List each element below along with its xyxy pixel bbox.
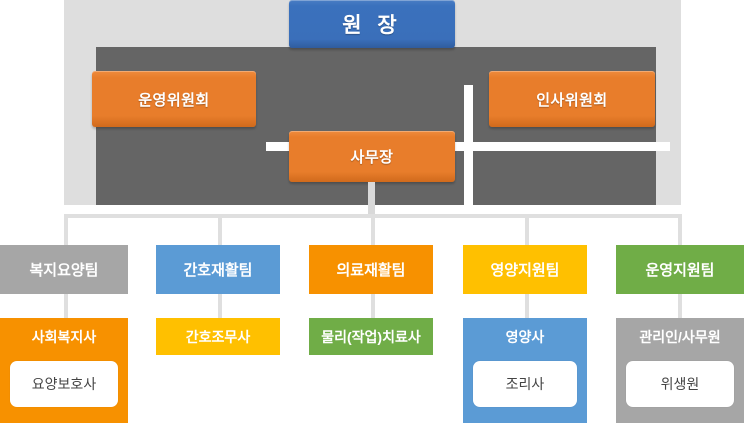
role-connector-3 — [371, 294, 375, 318]
role-connector-4 — [525, 294, 529, 318]
node-office-manager[interactable]: 사무장 — [289, 131, 455, 182]
rolecol-nurse-aide: 간호조무사 — [156, 318, 280, 355]
tree-drop-2 — [218, 214, 222, 247]
team-medical-rehab[interactable]: 의료재활팀 — [309, 245, 433, 294]
team-operations-support[interactable]: 운영지원팀 — [616, 245, 744, 294]
tree-drop-5 — [678, 214, 682, 247]
role-manager-clerk[interactable]: 관리인/사무원 — [616, 318, 744, 355]
executive-connector-vertical — [464, 85, 473, 223]
role-dietitian[interactable]: 영양사 — [463, 318, 587, 355]
role-social-worker[interactable]: 사회복지사 — [0, 318, 128, 355]
rolecol-social-worker: 사회복지사 요양보호사 — [0, 318, 128, 423]
role-nurse-aide[interactable]: 간호조무사 — [156, 318, 280, 355]
organization-chart: 원 장 운영위원회 인사위원회 사무장 복지요양팀 간호재활팀 의료재활팀 영양… — [0, 0, 744, 423]
role-connector-1 — [64, 294, 68, 318]
rolecol-manager-clerk: 관리인/사무원 위생원 — [616, 318, 744, 423]
tree-drop-4 — [525, 214, 529, 247]
rolecol-dietitian: 영양사 조리사 — [463, 318, 587, 423]
tree-stem — [368, 182, 375, 215]
node-personnel-committee[interactable]: 인사위원회 — [489, 71, 655, 127]
sub-cook[interactable]: 조리사 — [473, 361, 577, 407]
tree-drop-1 — [64, 214, 68, 247]
sub-sanitation-worker[interactable]: 위생원 — [626, 361, 734, 407]
role-connector-5 — [678, 294, 682, 318]
team-nursing-rehab[interactable]: 간호재활팀 — [156, 245, 280, 294]
sub-care-worker[interactable]: 요양보호사 — [10, 361, 118, 407]
team-nutrition-support[interactable]: 영양지원팀 — [463, 245, 587, 294]
rolecol-therapist: 물리(작업)치료사 — [309, 318, 433, 355]
team-welfare-care[interactable]: 복지요양팀 — [0, 245, 128, 294]
role-physical-occupational-therapist[interactable]: 물리(작업)치료사 — [309, 318, 433, 355]
role-connector-2 — [218, 294, 222, 318]
node-director[interactable]: 원 장 — [289, 0, 455, 48]
node-operating-committee[interactable]: 운영위원회 — [92, 71, 256, 127]
tree-drop-3 — [371, 214, 375, 247]
